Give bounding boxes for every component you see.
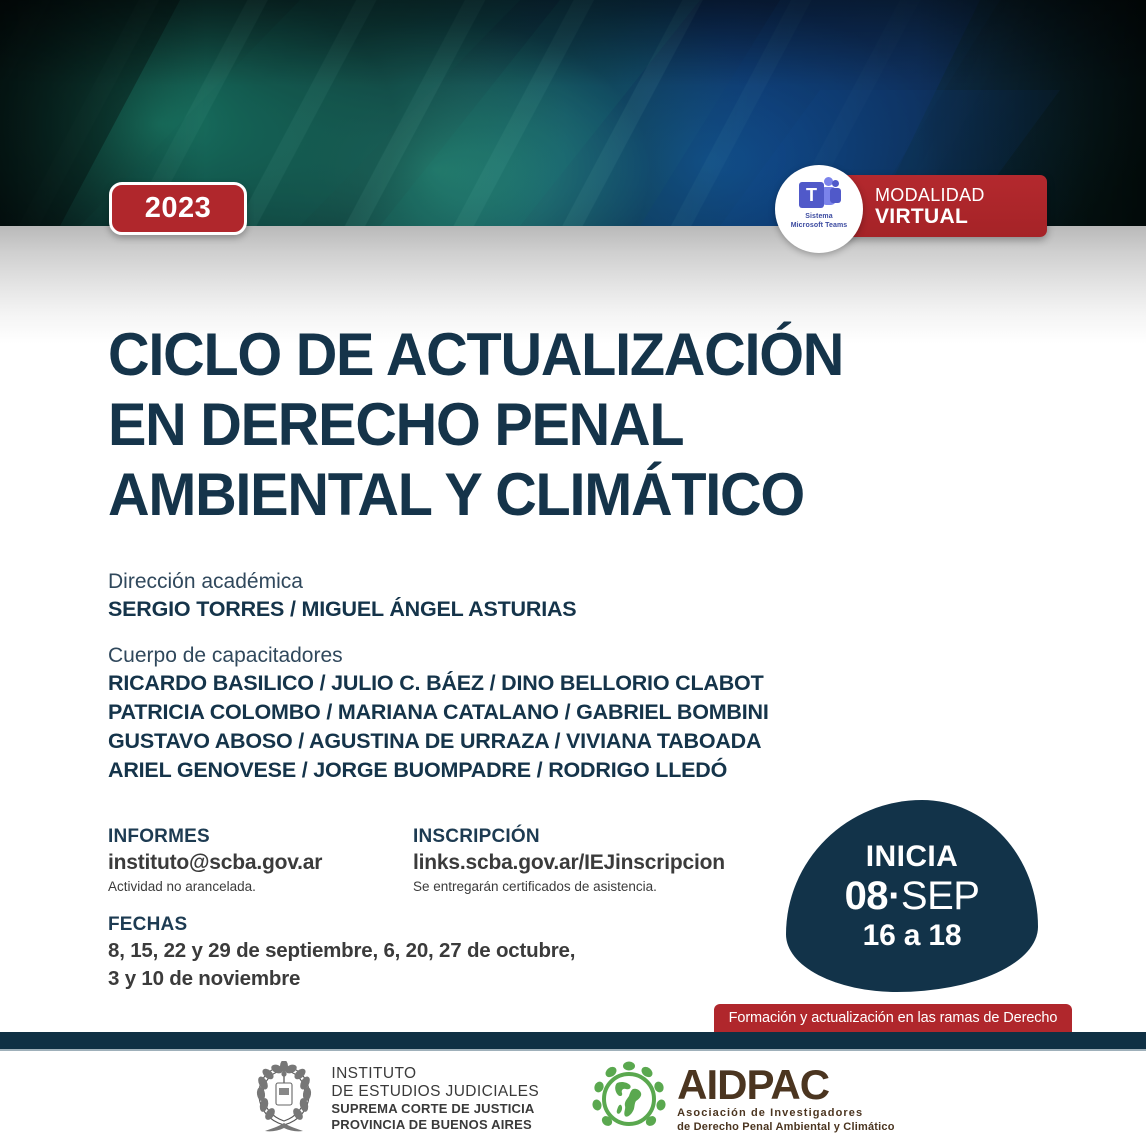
tagline-text: Formación y actualización en las ramas d… [729,1010,1058,1026]
faculty-row: ARIEL GENOVESE / JORGE BUOMPADRE / RODRI… [108,756,968,785]
direction-label: Dirección académica [108,568,968,595]
iej-line-4: PROVINCIA DE BUENOS AIRES [331,1117,539,1133]
informes-heading: INFORMES [108,825,398,849]
footer-divider-bar [0,1032,1146,1049]
inscripcion-heading: INSCRIPCIÓN [413,825,813,849]
iej-line-3: SUPREMA CORTE DE JUSTICIA [331,1101,539,1117]
iej-line-2: DE ESTUDIOS JUDICIALES [331,1083,539,1101]
aidpac-text: AIDPAC Asociación de Investigadores de D… [677,1063,894,1134]
iej-logo: INSTITUTO DE ESTUDIOS JUDICIALES SUPREMA… [251,1061,539,1137]
fechas-line-2: 3 y 10 de noviembre [108,965,748,993]
title-line-3: AMBIENTAL Y CLIMÁTICO [108,460,1020,530]
poster-title: CICLO DE ACTUALIZACIÓN EN DERECHO PENAL … [108,320,1020,530]
informes-email[interactable]: instituto@scba.gov.ar [108,849,398,877]
title-line-2: EN DERECHO PENAL [108,390,1020,460]
start-month: SEP [901,874,980,918]
year-badge-label: 2023 [145,192,212,225]
inscripcion-link[interactable]: links.scba.gov.ar/IEJinscripcion [413,849,813,877]
fechas-block: FECHAS 8, 15, 22 y 29 de septiembre, 6, … [108,912,748,993]
people-section: Dirección académica SERGIO TORRES / MIGU… [108,568,968,785]
iej-line-1: INSTITUTO [331,1065,539,1083]
start-label: INICIA [866,840,958,874]
aidpac-subtitle-1: Asociación de Investigadores [677,1106,894,1120]
start-day: 08 [845,874,889,918]
globe-leaves-icon [591,1061,667,1137]
informes-block: INFORMES instituto@scba.gov.ar Actividad… [108,825,398,896]
title-line-1: CICLO DE ACTUALIZACIÓN [108,320,1020,390]
teams-person-small-body-icon [830,188,841,203]
section-spacer [108,624,968,642]
teams-person-small-head-icon [832,180,839,187]
direction-names: SERGIO TORRES / MIGUEL ÁNGEL ASTURIAS [108,595,968,624]
year-badge: 2023 [109,182,247,235]
microsoft-teams-icon: T [797,177,841,211]
start-date-blob: INICIA 08·SEP 16 a 18 [786,800,1038,992]
tagline-strip: Formación y actualización en las ramas d… [714,1004,1072,1032]
modality-label-line2: VIRTUAL [875,205,1047,228]
faculty-row: PATRICIA COLOMBO / MARIANA CATALANO / GA… [108,698,968,727]
teams-t-letter-icon: T [799,182,824,208]
footer: INSTITUTO DE ESTUDIOS JUDICIALES SUPREMA… [0,1051,1146,1146]
start-date: 08·SEP [845,874,980,918]
teams-caption-line2: Microsoft Teams [791,222,848,231]
teams-caption: Sistema Microsoft Teams [791,213,848,230]
coat-of-arms-icon [251,1061,317,1137]
inscripcion-block: INSCRIPCIÓN links.scba.gov.ar/IEJinscrip… [413,825,813,896]
iej-text: INSTITUTO DE ESTUDIOS JUDICIALES SUPREMA… [331,1065,539,1133]
inscripcion-note: Se entregarán certificados de asistencia… [413,877,813,896]
faculty-label: Cuerpo de capacitadores [108,642,968,669]
modality-label-line1: MODALIDAD [875,185,1047,205]
start-separator: · [888,874,901,918]
start-time: 16 a 18 [863,918,962,953]
faculty-row: RICARDO BASILICO / JULIO C. BÁEZ / DINO … [108,669,968,698]
aidpac-subtitle-2: de Derecho Penal Ambiental y Climático [677,1120,894,1134]
fechas-line-1: 8, 15, 22 y 29 de septiembre, 6, 20, 27 … [108,937,748,965]
aidpac-logo: AIDPAC Asociación de Investigadores de D… [591,1061,894,1137]
aidpac-name: AIDPAC [677,1063,894,1106]
poster-root: 2023 MODALIDAD VIRTUAL T Sistema Microso… [0,0,1146,1146]
informes-note: Actividad no arancelada. [108,877,398,896]
teams-caption-line1: Sistema [791,213,848,222]
faculty-row: GUSTAVO ABOSO / AGUSTINA DE URRAZA / VIV… [108,727,968,756]
microsoft-teams-badge: T Sistema Microsoft Teams [775,165,863,253]
fechas-heading: FECHAS [108,912,748,937]
